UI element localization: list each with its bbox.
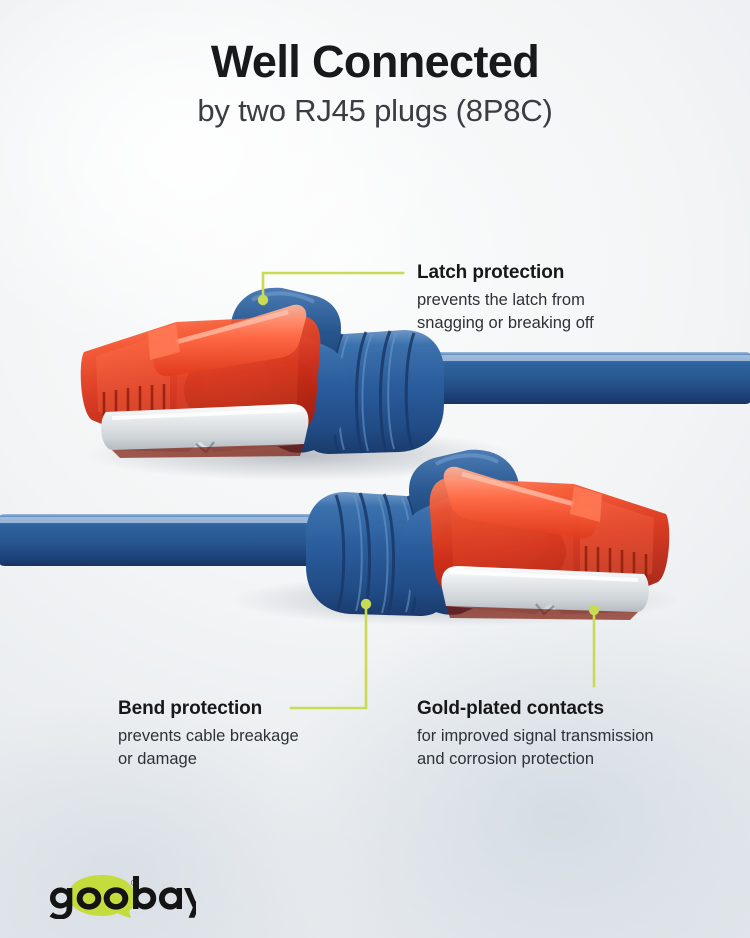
callout-bend-body-line1: prevents cable breakage — [118, 725, 388, 748]
product-photo — [0, 0, 750, 938]
callout-latch-title: Latch protection — [417, 261, 707, 285]
callout-latch-body-line2: snagging or breaking off — [417, 312, 707, 335]
callout-gold-body-line2: and corrosion protection — [417, 748, 717, 771]
callout-gold-plated-contacts: Gold-plated contacts for improved signal… — [417, 697, 717, 772]
callout-bend-protection: Bend protection prevents cable breakage … — [118, 697, 388, 772]
callout-bend-body: prevents cable breakage or damage — [118, 725, 388, 772]
callout-gold-title: Gold-plated contacts — [417, 697, 717, 721]
logo-registered-mark: ® — [131, 878, 138, 888]
callout-latch-body-line1: prevents the latch from — [417, 289, 707, 312]
header-block: Well Connected by two RJ45 plugs (8P8C) — [0, 38, 750, 129]
upper-cable-highlight — [430, 355, 750, 361]
lower-cable-highlight — [0, 517, 328, 523]
callout-latch-body: prevents the latch from snagging or brea… — [417, 289, 707, 336]
callout-latch-protection: Latch protection prevents the latch from… — [417, 261, 707, 336]
callout-bend-body-line2: or damage — [118, 748, 388, 771]
page-title: Well Connected — [0, 38, 750, 85]
callout-bend-title: Bend protection — [118, 697, 388, 721]
page-subtitle: by two RJ45 plugs (8P8C) — [0, 93, 750, 129]
goobay-logo — [46, 873, 196, 919]
infographic-canvas: Well Connected by two RJ45 plugs (8P8C) … — [0, 0, 750, 938]
callout-gold-body: for improved signal transmission and cor… — [417, 725, 717, 772]
callout-gold-body-line1: for improved signal transmission — [417, 725, 717, 748]
